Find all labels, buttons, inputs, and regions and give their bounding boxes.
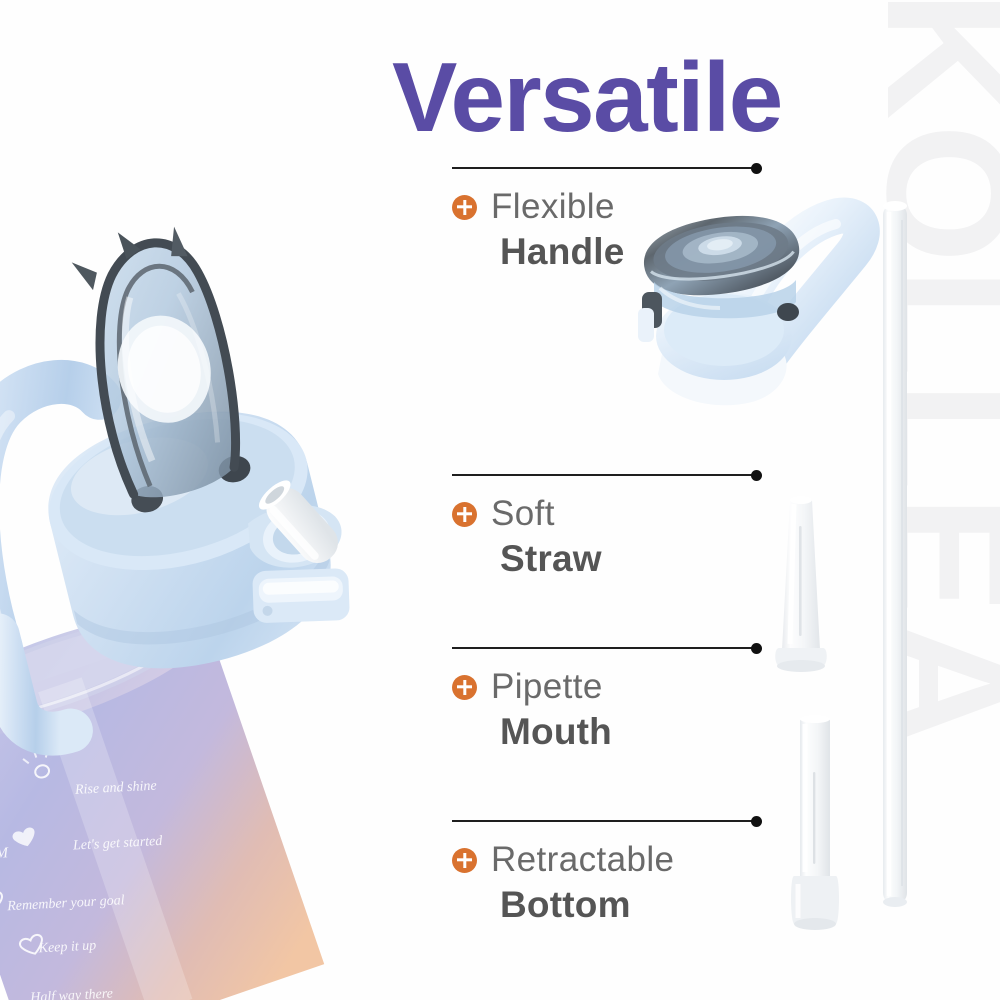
feature-line1-text: Flexible — [491, 187, 615, 227]
feature-line1-row: Soft — [452, 494, 762, 534]
plus-circle-icon — [452, 502, 477, 527]
feature-line1-text: Pipette — [491, 667, 603, 707]
hero-illustration: 7AM Rise and shine 9AM Let's get started… — [0, 190, 440, 1000]
feature-line2-text: Mouth — [500, 711, 762, 753]
feature-callout-flexible-handle[interactable]: Flexible Handle — [452, 163, 762, 273]
callout-line — [452, 820, 757, 822]
feature-line1-row: Pipette — [452, 667, 762, 707]
callout-rule — [452, 470, 762, 480]
part-image-straw-tip — [770, 492, 832, 678]
callout-rule — [452, 816, 762, 826]
svg-text:Half way there: Half way there — [29, 986, 113, 1000]
callout-line — [452, 474, 757, 476]
product-hero-image: 7AM Rise and shine 9AM Let's get started… — [0, 190, 440, 1000]
infographic-canvas: KOLLEA Versatile — [0, 0, 1000, 1000]
feature-callout-retractable-bottom[interactable]: Retractable Bottom — [452, 816, 762, 926]
feature-callout-pipette-mouth[interactable]: Pipette Mouth — [452, 643, 762, 753]
straw-tip-illustration — [770, 492, 832, 678]
page-title: Versatile — [392, 48, 782, 146]
feature-line1-text: Soft — [491, 494, 555, 534]
feature-callout-soft-straw[interactable]: Soft Straw — [452, 470, 762, 580]
feature-label: Flexible Handle — [452, 187, 762, 273]
callout-rule — [452, 643, 762, 653]
brand-watermark: KOLLEA — [824, 0, 1000, 1000]
feature-line2-text: Straw — [500, 538, 762, 580]
feature-line1-row: Retractable — [452, 840, 762, 880]
callout-rule — [452, 163, 762, 173]
svg-text:Remember your goal: Remember your goal — [6, 893, 125, 914]
plus-circle-icon — [452, 848, 477, 873]
svg-text:Let's get started: Let's get started — [72, 834, 164, 854]
callout-line — [452, 167, 757, 169]
feature-label: Retractable Bottom — [452, 840, 762, 926]
feature-line2-text: Bottom — [500, 884, 762, 926]
callout-line — [452, 647, 757, 649]
callout-endpoint-dot — [751, 643, 762, 654]
plus-circle-icon — [452, 195, 477, 220]
feature-label: Pipette Mouth — [452, 667, 762, 753]
svg-text:9AM: 9AM — [0, 845, 10, 863]
plus-circle-icon — [452, 675, 477, 700]
feature-line1-row: Flexible — [452, 187, 762, 227]
svg-text:Rise and shine: Rise and shine — [74, 779, 157, 798]
feature-label: Soft Straw — [452, 494, 762, 580]
feature-line1-text: Retractable — [491, 840, 674, 880]
callout-endpoint-dot — [751, 163, 762, 174]
callout-endpoint-dot — [751, 816, 762, 827]
feature-line2-text: Handle — [500, 231, 762, 273]
svg-text:Keep it up: Keep it up — [37, 938, 96, 956]
callout-endpoint-dot — [751, 470, 762, 481]
